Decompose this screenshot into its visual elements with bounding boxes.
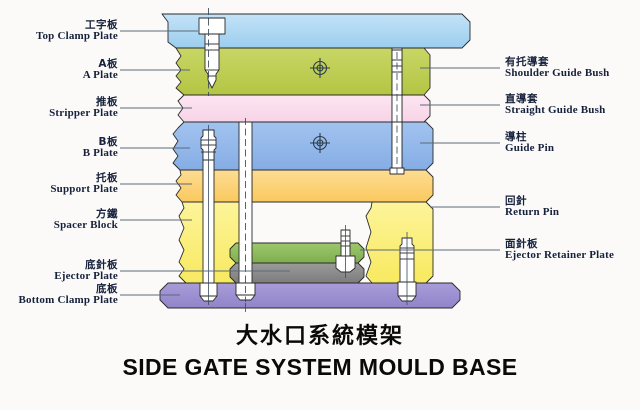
label-support-plate: 托板 Support Plate: [0, 173, 118, 196]
label-support-plate-en: Support Plate: [0, 184, 118, 196]
label-a-plate: A板 A Plate: [0, 59, 118, 82]
label-return-pin-en: Return Pin: [505, 207, 559, 219]
label-ejector-plate-en: Ejector Plate: [0, 271, 118, 283]
label-b-plate: B板 B Plate: [0, 137, 118, 160]
label-ejector-retainer-plate: 面針板 Ejector Retainer Plate: [505, 239, 614, 262]
label-shoulder-guide-bush-en: Shoulder Guide Bush: [505, 68, 609, 80]
label-ejector-plate: 底針板 Ejector Plate: [0, 260, 118, 283]
label-straight-guide-bush-en: Straight Guide Bush: [505, 105, 605, 117]
label-stripper-plate-en: Stripper Plate: [0, 108, 118, 120]
label-bottom-clamp-plate-en: Bottom Clamp Plate: [0, 295, 118, 307]
label-shoulder-guide-bush: 有托導套 Shoulder Guide Bush: [505, 57, 609, 80]
label-bottom-clamp-plate: 底板 Bottom Clamp Plate: [0, 284, 118, 307]
label-top-clamp-plate: 工字板 Top Clamp Plate: [0, 20, 118, 43]
label-stripper-plate: 推板 Stripper Plate: [0, 97, 118, 120]
label-ejector-retainer-plate-en: Ejector Retainer Plate: [505, 250, 614, 262]
diagram-root: 工字板 Top Clamp Plate A板 A Plate 推板 Stripp…: [0, 0, 640, 410]
label-b-plate-en: B Plate: [0, 148, 118, 160]
label-straight-guide-bush: 直導套 Straight Guide Bush: [505, 94, 605, 117]
label-spacer-block: 方鐵 Spacer Block: [0, 209, 118, 232]
label-a-plate-en: A Plate: [0, 70, 118, 82]
label-guide-pin: 導柱 Guide Pin: [505, 132, 554, 155]
label-top-clamp-plate-en: Top Clamp Plate: [0, 31, 118, 43]
part-support-plate: [176, 170, 433, 202]
label-spacer-block-en: Spacer Block: [0, 220, 118, 232]
label-return-pin: 回針 Return Pin: [505, 196, 559, 219]
title-en: SIDE GATE SYSTEM MOULD BASE: [0, 354, 640, 381]
label-guide-pin-en: Guide Pin: [505, 143, 554, 155]
title-cn: 大水口系統模架: [0, 318, 640, 350]
ejector-pin-center: [236, 122, 255, 300]
title-block: 大水口系統模架 SIDE GATE SYSTEM MOULD BASE: [0, 318, 640, 381]
